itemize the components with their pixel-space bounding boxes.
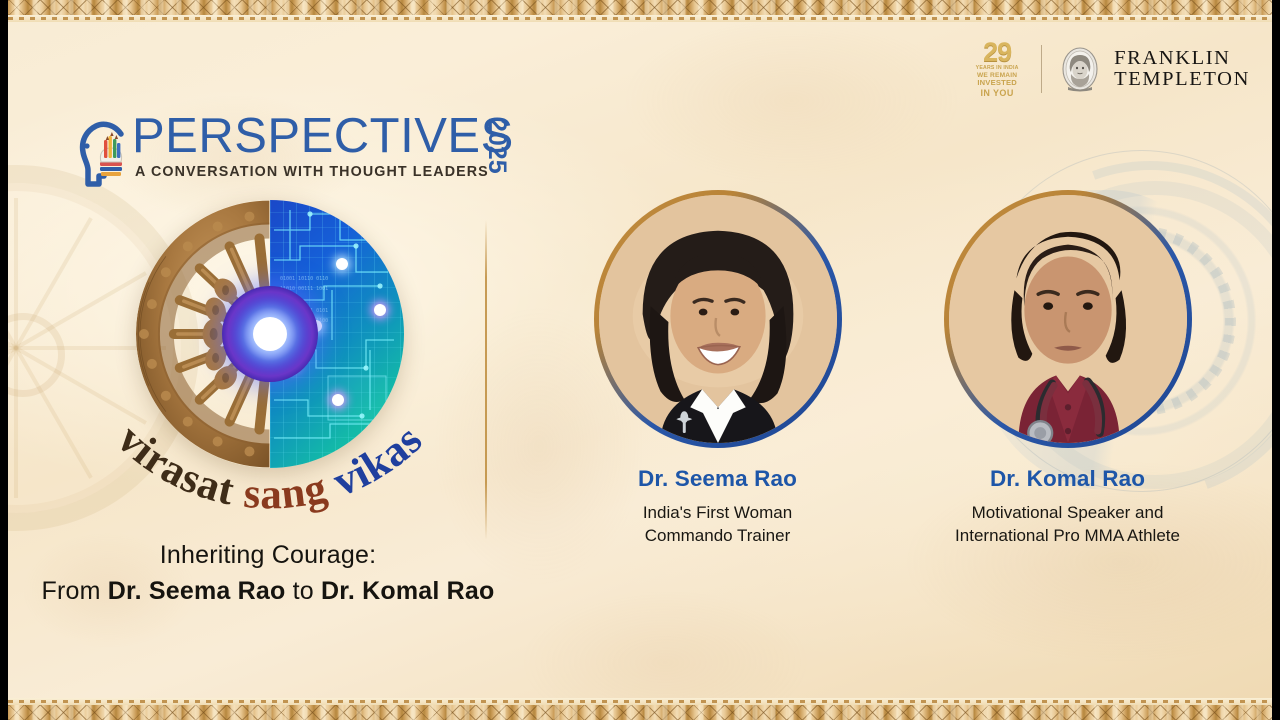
headline-prefix: From <box>42 577 108 605</box>
franklin-templeton-logo: 29 YEARS IN INDIA WE REMAIN INVESTED IN … <box>969 40 1250 98</box>
tagline-word-2: sang <box>242 461 344 518</box>
speaker-name: Dr. Seema Rao <box>571 466 864 492</box>
avatar <box>944 190 1192 448</box>
badge-line-4: IN YOU <box>969 88 1025 98</box>
anniversary-badge: 29 YEARS IN INDIA WE REMAIN INVESTED IN … <box>969 40 1025 98</box>
speaker-card-seema-rao: Dr. Seema Rao India's First Woman Comman… <box>571 190 864 547</box>
letterbox-bar-right <box>1272 0 1280 720</box>
letterbox-bar-left <box>0 0 8 720</box>
headline-line-2: From Dr. Seema Rao to Dr. Komal Rao <box>8 574 528 608</box>
tagline-word-1: virasat <box>108 416 248 517</box>
slide-canvas: 29 YEARS IN INDIA WE REMAIN INVESTED IN … <box>8 0 1272 720</box>
badge-line-3: INVESTED <box>969 79 1025 88</box>
portrait-komal-rao <box>949 195 1187 443</box>
logo-year: 2025 <box>484 118 509 174</box>
headline-middle: to <box>285 577 321 605</box>
tagline-word-3: vikas <box>327 416 432 506</box>
theme-tagline-curved: virasat sang vikas <box>60 352 480 552</box>
session-headline: Inheriting Courage: From Dr. Seema Rao t… <box>8 538 528 608</box>
presentation-slide: 29 YEARS IN INDIA WE REMAIN INVESTED IN … <box>0 0 1280 720</box>
speaker-name: Dr. Komal Rao <box>921 466 1214 492</box>
decorative-border-top <box>8 0 1272 22</box>
logo-divider <box>1041 45 1042 93</box>
speaker-card-komal-rao: Dr. Komal Rao Motivational Speaker and I… <box>921 190 1214 547</box>
portrait-seema-rao <box>599 195 837 443</box>
headline-name-2: Dr. Komal Rao <box>321 577 494 605</box>
headline-line-1: Inheriting Courage: <box>8 538 528 572</box>
decorative-border-bottom <box>8 698 1272 720</box>
perspectives-logo: PERSPECTIVES A CONVERSATION WITH THOUGHT… <box>74 112 514 188</box>
head-lightbulb-icon <box>74 118 136 188</box>
badge-line-1: YEARS IN INDIA <box>969 65 1025 72</box>
avatar <box>594 190 842 448</box>
speaker-description: India's First Woman Commando Trainer <box>571 501 864 547</box>
benjamin-franklin-portrait-icon <box>1058 46 1102 92</box>
franklin-templeton-wordmark: FRANKLIN TEMPLETON <box>1114 48 1250 90</box>
svg-text:01001 10110 0110: 01001 10110 0110 <box>280 276 328 282</box>
logo-tagline: A CONVERSATION WITH THOUGHT LEADERS <box>135 164 514 180</box>
brand-name-line-1: FRANKLIN <box>1114 48 1250 69</box>
theme-tagline-text: virasat sang vikas <box>108 416 432 519</box>
headline-name-1: Dr. Seema Rao <box>108 577 286 605</box>
logo-wordmark: PERSPECTIVES <box>132 112 514 161</box>
badge-number: 29 <box>969 40 1025 64</box>
section-divider <box>485 220 487 540</box>
brand-name-line-2: TEMPLETON <box>1114 69 1250 90</box>
speaker-description: Motivational Speaker and International P… <box>921 501 1214 547</box>
